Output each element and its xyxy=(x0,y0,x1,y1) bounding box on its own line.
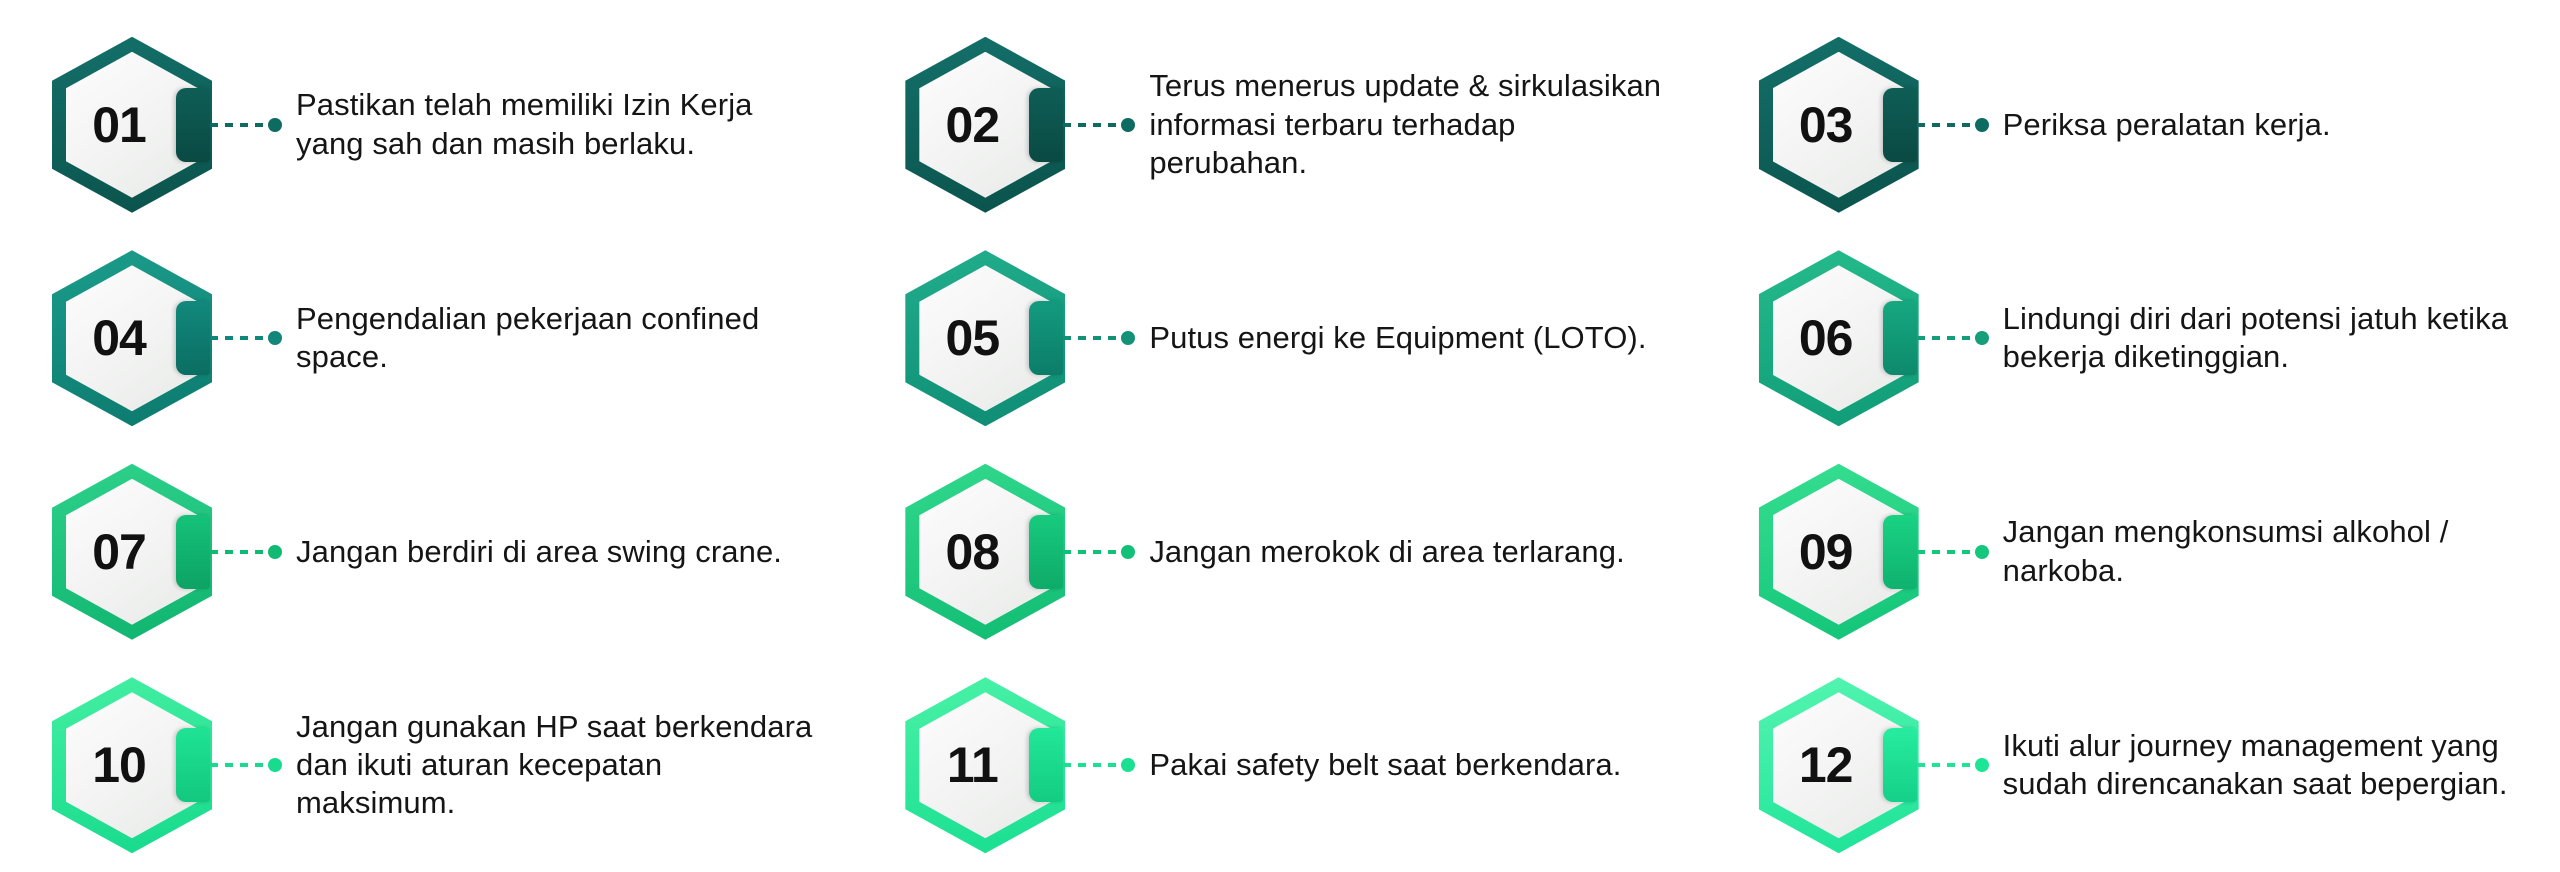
list-item[interactable]: 07 Jangan berdiri di area swing crane. xyxy=(0,445,853,659)
connector-dot-icon xyxy=(1975,545,1989,559)
item-number: 04 xyxy=(66,265,198,411)
list-item[interactable]: 03 Periksa peralatan kerja. xyxy=(1707,18,2560,232)
dotted-line-icon xyxy=(1063,763,1118,767)
connector-dot-icon xyxy=(1121,545,1135,559)
connector xyxy=(1917,545,1989,559)
connector-dot-icon xyxy=(268,331,282,345)
dotted-line-icon xyxy=(210,763,265,767)
item-description: Ikuti alur journey management yang sudah… xyxy=(1989,727,2560,804)
item-number: 01 xyxy=(66,52,198,198)
item-description: Pengendalian pekerjaan confined space. xyxy=(282,300,853,377)
connector-dot-icon xyxy=(1121,758,1135,772)
dotted-line-icon xyxy=(1063,336,1118,340)
hexagon-badge: 02 xyxy=(905,37,1065,213)
connector xyxy=(210,331,282,345)
connector-dot-icon xyxy=(268,545,282,559)
list-item[interactable]: 08 Jangan merokok di area terlarang. xyxy=(853,445,1706,659)
hexagon-badge: 10 xyxy=(52,677,212,853)
dotted-line-icon xyxy=(210,123,265,127)
item-number: 02 xyxy=(919,52,1051,198)
item-number: 10 xyxy=(66,692,198,838)
connector xyxy=(1917,118,1989,132)
item-description: Jangan merokok di area terlarang. xyxy=(1135,533,1706,571)
dotted-line-icon xyxy=(1063,550,1118,554)
dotted-line-icon xyxy=(1917,550,1972,554)
item-number: 09 xyxy=(1773,479,1905,625)
hexagon-badge: 04 xyxy=(52,250,212,426)
list-item[interactable]: 09 Jangan mengkonsumsi alkohol / narkoba… xyxy=(1707,445,2560,659)
dotted-line-icon xyxy=(210,336,265,340)
hexagon-badge: 12 xyxy=(1759,677,1919,853)
list-item[interactable]: 11 Pakai safety belt saat berkendara. xyxy=(853,659,1706,872)
hexagon-badge: 07 xyxy=(52,464,212,640)
dotted-line-icon xyxy=(210,550,265,554)
connector xyxy=(1063,545,1135,559)
connector xyxy=(210,118,282,132)
dotted-line-icon xyxy=(1063,123,1118,127)
hexagon-badge: 05 xyxy=(905,250,1065,426)
item-number: 11 xyxy=(919,692,1051,838)
hexagon-badge: 01 xyxy=(52,37,212,213)
item-number: 05 xyxy=(919,265,1051,411)
connector xyxy=(1063,758,1135,772)
items-grid: 01 Pastikan telah memiliki Izin Kerja ya… xyxy=(0,18,2560,872)
item-description: Pakai safety belt saat berkendara. xyxy=(1135,746,1706,784)
hexagon-badge: 09 xyxy=(1759,464,1919,640)
list-item[interactable]: 05 Putus energi ke Equipment (LOTO). xyxy=(853,232,1706,446)
connector-dot-icon xyxy=(268,118,282,132)
connector xyxy=(1917,758,1989,772)
connector xyxy=(1917,331,1989,345)
item-description: Jangan berdiri di area swing crane. xyxy=(282,533,853,571)
connector-dot-icon xyxy=(1121,118,1135,132)
connector-dot-icon xyxy=(1975,118,1989,132)
item-description: Pastikan telah memiliki Izin Kerja yang … xyxy=(282,86,853,163)
item-description: Putus energi ke Equipment (LOTO). xyxy=(1135,319,1706,357)
connector xyxy=(1063,331,1135,345)
list-item[interactable]: 10 Jangan gunakan HP saat berkendara dan… xyxy=(0,659,853,872)
connector xyxy=(210,758,282,772)
connector-dot-icon xyxy=(268,758,282,772)
list-item[interactable]: 06 Lindungi diri dari potensi jatuh keti… xyxy=(1707,232,2560,446)
item-description: Jangan mengkonsumsi alkohol / narkoba. xyxy=(1989,513,2560,590)
item-description: Periksa peralatan kerja. xyxy=(1989,106,2560,144)
connector-dot-icon xyxy=(1975,331,1989,345)
infographic-board: 01 Pastikan telah memiliki Izin Kerja ya… xyxy=(0,0,2560,872)
item-number: 07 xyxy=(66,479,198,625)
item-number: 06 xyxy=(1773,265,1905,411)
list-item[interactable]: 12 Ikuti alur journey management yang su… xyxy=(1707,659,2560,872)
item-number: 12 xyxy=(1773,692,1905,838)
dotted-line-icon xyxy=(1917,763,1972,767)
list-item[interactable]: 04 Pengendalian pekerjaan confined space… xyxy=(0,232,853,446)
hexagon-badge: 03 xyxy=(1759,37,1919,213)
connector xyxy=(1063,118,1135,132)
dotted-line-icon xyxy=(1917,336,1972,340)
hexagon-badge: 11 xyxy=(905,677,1065,853)
item-number: 08 xyxy=(919,479,1051,625)
connector-dot-icon xyxy=(1975,758,1989,772)
item-description: Terus menerus update & sirkulasikan info… xyxy=(1135,67,1706,182)
list-item[interactable]: 01 Pastikan telah memiliki Izin Kerja ya… xyxy=(0,18,853,232)
hexagon-badge: 06 xyxy=(1759,250,1919,426)
connector-dot-icon xyxy=(1121,331,1135,345)
item-number: 03 xyxy=(1773,52,1905,198)
item-description: Jangan gunakan HP saat berkendara dan ik… xyxy=(282,708,853,823)
hexagon-badge: 08 xyxy=(905,464,1065,640)
dotted-line-icon xyxy=(1917,123,1972,127)
item-description: Lindungi diri dari potensi jatuh ketika … xyxy=(1989,300,2560,377)
connector xyxy=(210,545,282,559)
list-item[interactable]: 02 Terus menerus update & sirkulasikan i… xyxy=(853,18,1706,232)
